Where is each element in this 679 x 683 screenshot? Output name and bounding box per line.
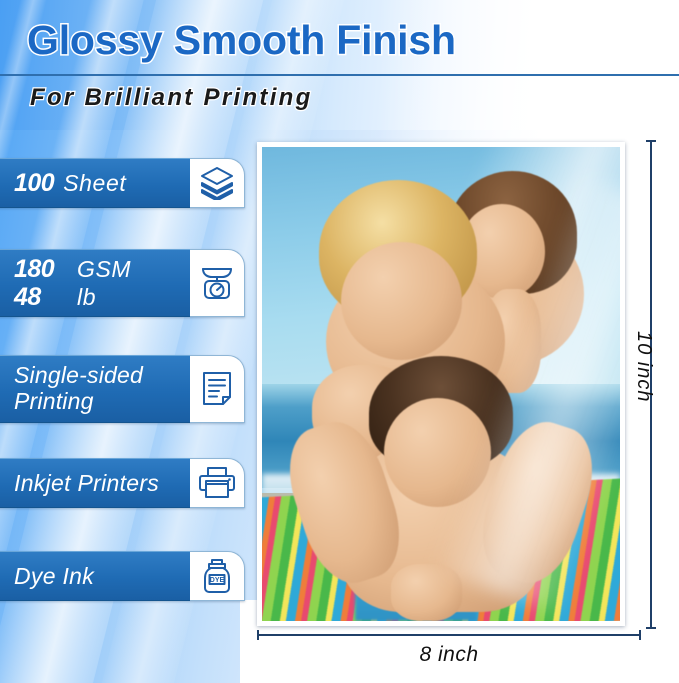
ink-bottle-label: DYE bbox=[210, 577, 225, 584]
document-icon bbox=[190, 355, 245, 423]
feature-text: Inkjet Printers bbox=[14, 471, 159, 496]
feature-row-printer-type: Inkjet Printers bbox=[0, 458, 245, 508]
feature-row-sheet-count: 100 Sheet bbox=[0, 158, 245, 208]
feature-row-print-sides: Single-sided Printing bbox=[0, 355, 245, 423]
product-infographic: Glossy Smooth Finish For Brilliant Print… bbox=[0, 0, 679, 683]
width-dimension-label: 8 inch bbox=[257, 643, 641, 667]
page-title: Glossy Smooth Finish bbox=[27, 17, 456, 64]
page-subtitle: For Brilliant Printing bbox=[30, 84, 313, 112]
photo-child-dark-hand bbox=[391, 564, 463, 621]
feature-number-gsm: 180 bbox=[14, 256, 68, 283]
feature-bar: Single-sided Printing bbox=[0, 355, 190, 423]
feature-text-line1: Single-sided bbox=[14, 363, 143, 389]
feature-label-gsm: GSM bbox=[77, 257, 131, 282]
feature-number: 100 bbox=[14, 170, 54, 197]
width-dimension-line bbox=[257, 634, 641, 636]
feature-text: Dye Ink bbox=[14, 564, 94, 589]
printer-icon bbox=[190, 458, 245, 508]
photo-child-dark-face bbox=[384, 398, 491, 507]
feature-number-lb: 48 bbox=[14, 284, 68, 311]
feature-row-ink-type: Dye Ink DYE bbox=[0, 551, 245, 601]
feature-bar: 100 Sheet bbox=[0, 158, 190, 208]
feature-label-lb: lb bbox=[77, 285, 96, 310]
height-dimension-label: 10 inch bbox=[632, 331, 655, 403]
feature-text-line2: Printing bbox=[14, 389, 143, 415]
weight-scale-icon bbox=[190, 249, 245, 317]
ink-bottle-icon: DYE bbox=[190, 551, 245, 601]
paper-stack-icon bbox=[190, 158, 245, 208]
feature-bar: Inkjet Printers bbox=[0, 458, 190, 508]
feature-bar: 180 GSM 48 lb bbox=[0, 249, 190, 317]
feature-row-paper-weight: 180 GSM 48 lb bbox=[0, 249, 245, 317]
photo-child-blond-face bbox=[341, 242, 463, 361]
feature-label: Sheet bbox=[63, 171, 126, 196]
product-photo bbox=[257, 142, 625, 626]
beach-children-photo bbox=[262, 147, 620, 621]
feature-bar: Dye Ink bbox=[0, 551, 190, 601]
title-divider bbox=[0, 74, 679, 76]
